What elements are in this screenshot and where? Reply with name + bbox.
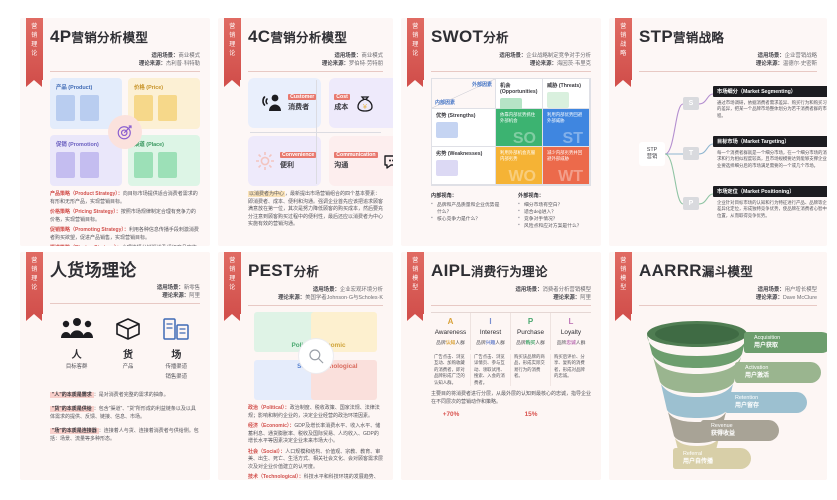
ribbon-pest: 营 销 理 论 xyxy=(224,252,241,314)
mindmap-node-s[interactable]: S xyxy=(683,97,699,110)
target-icon xyxy=(108,115,142,149)
card-header: PEST分析 适用场景：企业宏观环境分析 理论来源：美国学者Johnson·G与… xyxy=(248,260,383,306)
ribbon-stp: 营 销 战 略 xyxy=(615,18,632,80)
para: "货"的本质是供给：包含"渠道"、"货"所形成的利益链条以及以具体需求的提供、反… xyxy=(50,405,200,421)
mindmap-card-positioning: 市场定位（Market Positioning） 企业针对目标市场的认知和行为特… xyxy=(713,186,827,219)
funnel-label-acquisition: Acquisition 用户获取 xyxy=(744,332,827,353)
pct-awareness: +70% xyxy=(431,411,471,418)
aipl-desc-interest: 广告点击、浏览详情页、参与互动、领取试用、搜索、入会的消费者。 xyxy=(471,354,511,386)
page-title: SWOT分析 xyxy=(431,26,591,49)
ribbon-4p: 营 销 理 论 xyxy=(26,18,43,80)
card-meta: 适用场景：新零售 理论来源：阿里 xyxy=(50,284,200,300)
para: 主要目的将消费者进行分层，从最外层的认知到最核心的忠诚，指导企业在不同层次的营销… xyxy=(431,391,591,406)
list-item: 核心竞争力是什么？ xyxy=(431,216,504,223)
title-sub: 营销分析模型 xyxy=(71,31,148,45)
list-item: 竞争对手情况？ xyxy=(518,216,591,223)
ribbon-swot: 营 销 理 论 xyxy=(407,18,424,80)
para: 经济（Economic）：GDP及增长率消费水平、收入水平、储蓄利息、通货膨胀率… xyxy=(248,423,383,446)
matrix-cell-wo: 利用外部机会克服内部劣势WO xyxy=(496,147,543,185)
card-swot: 营 销 理 论 SWOT分析 适用场景：企业战略制定竞争对手分析 理论来源：海因… xyxy=(401,18,601,246)
matrix-row-weaknesses: 劣势 (Weaknesses) xyxy=(432,147,496,185)
card-meta: 适用场景：消费者分析营销模型 理论来源：阿里 xyxy=(431,286,591,302)
card-body-4p: 产品策略（Product Strategy）：向目标市场提供适合消费者需求的有形… xyxy=(50,191,200,246)
diagram-4p: 产品 (Product) 价格 (Price) 促销 (Promotion) 渠… xyxy=(50,78,200,186)
quadrant-cost: Cost成本 ¥ xyxy=(329,78,393,128)
funnel-label-revenue: Revenue 获得收益 xyxy=(701,420,779,441)
aipl-col-purchase: P Purchase 品牌购买人群 xyxy=(511,313,551,350)
card-4p: 营 销 理 论 4P营销分析模型 适用场景：商业模式 理论来源：杰利普·科特勒 … xyxy=(20,18,210,246)
para: 政治（Political）：政治制度、税收政策、国家法规、法律法规；影响和制约企… xyxy=(248,405,383,420)
page-title: STP营销战略 xyxy=(639,26,817,49)
aipl-percentages: +70% 15% xyxy=(431,411,591,418)
para: 产品策略（Product Strategy）：向目标市场提供适合消费者需求的有形… xyxy=(50,191,200,206)
customer-icon xyxy=(261,91,285,115)
gear-icon xyxy=(253,149,277,173)
swot-internal-list: 内部视角： 品牌和产品质量和企业优势是什么？ 核心竞争力是什么？ xyxy=(431,192,504,230)
axis-horizontal xyxy=(250,132,381,133)
card-stp: 营 销 战 略 STP营销战略 适用场景：企业营销战略 理论来源：温德尔·史密斯… xyxy=(609,18,827,246)
rhc-items: 人 目标客群 货 产品 场 传播渠道 销售渠道 xyxy=(50,312,200,381)
aipl-col-interest: I Interest 品牌兴趣人群 xyxy=(471,313,511,350)
ribbon-renhuochang: 营 销 理 论 xyxy=(26,252,43,314)
pct-loyalty xyxy=(551,411,591,418)
ribbon-aipl: 营 销 模 型 xyxy=(407,252,424,314)
page-title: 人货场理论 xyxy=(50,260,200,281)
people-icon xyxy=(60,312,94,342)
funnel-aarrr: Acquisition 用户获取 Activation 用户激活 Retenti… xyxy=(639,310,817,480)
para: 促销策略（Promoting Strategy）：利用各种信息传播手段刺激消费者… xyxy=(50,227,200,242)
list-item: 细分市场有空白？ xyxy=(518,202,591,209)
ribbon-char: 理 xyxy=(31,41,38,49)
ribbon-char: 营 xyxy=(31,23,38,31)
para: 价格策略（Pricing Strategy）：按照市场规律制定合理有竞争力的价格… xyxy=(50,209,200,224)
diagram-pest: Political Economic Social Technological xyxy=(248,312,383,400)
card-header: SWOT分析 适用场景：企业战略制定竞争对手分析 理论来源：海因茨·韦里克 xyxy=(431,26,591,72)
pct-interest xyxy=(471,411,511,418)
page-title: AARRR漏斗模型 xyxy=(639,260,817,283)
list-item: 风险点和应对方案是什么？ xyxy=(518,223,591,230)
aipl-col-awareness: A Awareness 品牌认知人群 xyxy=(431,313,471,350)
money-bag-icon: ¥ xyxy=(353,91,377,115)
rhc-item-place: 场 传播渠道 销售渠道 xyxy=(162,312,190,381)
diagram-4c: Customer消费者 Cost成本 ¥ Convenience便利 Commu… xyxy=(248,78,383,186)
quadrant-communication: Communication沟通 xyxy=(329,136,393,186)
para: 以消费者为中心，最新提出市场营销组合的四个基本要素：即消费者、成本、便利和沟通。… xyxy=(248,191,383,229)
ribbon-aarrr: 营 销 模 型 xyxy=(615,252,632,314)
card-header: 4P营销分析模型 适用场景：商业模式 理论来源：杰利普·科特勒 xyxy=(50,26,200,72)
meta-row: 理论来源：杰利普·科特勒 xyxy=(50,60,200,68)
card-aipl: 营 销 模 型 AIPL消费行为理论 适用场景：消费者分析营销模型 理论来源：阿… xyxy=(401,252,601,480)
mindmap-stp: STP 营销 S T P 市场细分（Market Segmenting） 通过市… xyxy=(639,78,817,236)
card-meta: 适用场景：用户增长模型 理论来源：Dave McClure xyxy=(639,286,817,302)
aipl-columns: A Awareness 品牌认知人群 I Interest 品牌兴趣人群 P P… xyxy=(431,312,591,350)
ribbon-char: 论 xyxy=(31,50,38,58)
card-aarrr: 营 销 模 型 AARRR漏斗模型 适用场景：用户增长模型 理论来源：Dave … xyxy=(609,252,827,480)
matrix-cell-st: 利用内部优势回避外部威胁ST xyxy=(543,109,590,147)
mindmap-card-segmenting: 市场细分（Market Segmenting） 通过市场调研，依据消费者需求差异… xyxy=(713,86,827,119)
chat-bubble-icon xyxy=(381,149,394,173)
para: "人"的本质是需求：是对消费者完整的需求的抽象。 xyxy=(50,391,200,399)
aipl-desc-awareness: 广告点击、浏览互动、加购收藏的消费者，即对品牌形成广泛的认知人群。 xyxy=(431,354,471,386)
card-meta: 适用场景：企业战略制定竞争对手分析 理论来源：海因茨·韦里克 xyxy=(431,52,591,68)
card-4c: 营 销 理 论 4C营销分析模型 适用场景：商业模式 理论来源：罗伯特·劳特朋 … xyxy=(218,18,393,246)
para: 社会（Social）：人口规模和结构、价值观、宗教、教育、审美、出生、死亡、生活… xyxy=(248,449,383,472)
page-title: PEST分析 xyxy=(248,260,383,283)
matrix-row-strengths: 优势 (Strengths) xyxy=(432,109,496,147)
page-title: 4C营销分析模型 xyxy=(248,26,383,49)
card-pest: 营 销 理 论 PEST分析 适用场景：企业宏观环境分析 理论来源：美国学者Jo… xyxy=(218,252,393,480)
rhc-item-goods: 货 产品 xyxy=(113,312,143,381)
para: 渠道策略（Placing Strategy）：合理选择分销渠道及组织商品实体流通… xyxy=(50,245,200,246)
rhc-item-people: 人 目标客群 xyxy=(60,312,94,381)
para: 技术（Technological）：科技水平和科技环境的发展趋势、专利保护、技术… xyxy=(248,474,383,480)
aipl-descriptions: 广告点击、浏览互动、加购收藏的消费者，即对品牌形成广泛的认知人群。 广告点击、浏… xyxy=(431,354,591,386)
magnifier-icon xyxy=(299,339,333,373)
card-header: STP营销战略 适用场景：企业营销战略 理论来源：温德尔·史密斯 xyxy=(639,26,817,72)
ribbon-char: 销 xyxy=(31,32,38,40)
card-body-4c: 以消费者为中心，最新提出市场营销组合的四个基本要素：即消费者、成本、便利和沟通。… xyxy=(248,191,383,229)
card-meta: 适用场景：企业营销战略 理论来源：温德尔·史密斯 xyxy=(639,52,817,68)
matrix-cell-wt: 减少内部劣势并回避外部威胁WT xyxy=(543,147,590,185)
list-item: 适合değ进入？ xyxy=(518,209,591,216)
infographic-board: 营 销 理 论 4P营销分析模型 适用场景：商业模式 理论来源：杰利普·科特勒 … xyxy=(0,0,837,500)
quadrant-customer: Customer消费者 xyxy=(248,78,321,128)
para: "场"的本质是连接器：连接着人与货、连接着消费者与供给侧。包括：场景、流量等多种… xyxy=(50,427,200,443)
funnel-label-retention: Retention 用户留存 xyxy=(725,392,807,413)
mindmap-node-t[interactable]: T xyxy=(683,147,699,160)
aipl-col-loyalty: L Loyalty 品牌忠诚人群 xyxy=(551,313,591,350)
card-body-pest: 政治（Political）：政治制度、税收政策、国家法规、法律法规；影响和制约企… xyxy=(248,405,383,480)
list-item: 品牌和产品质量和企业优势是什么？ xyxy=(431,202,504,216)
page-title: AIPL消费行为理论 xyxy=(431,260,591,283)
pct-purchase: 15% xyxy=(511,411,551,418)
card-header: 人货场理论 适用场景：新零售 理论来源：阿里 xyxy=(50,260,200,304)
matrix-swot: 外部因素 内部因素 机会 (Opportunities) 威胁 (Threats… xyxy=(431,78,591,186)
funnel-label-referral: Referral 用户自传播 xyxy=(673,448,751,469)
mindmap-node-p[interactable]: P xyxy=(683,197,699,210)
ribbon-4c: 营 销 理 论 xyxy=(224,18,241,80)
card-meta: 适用场景：企业宏观环境分析 理论来源：美国学者Johnson·G与Scholes… xyxy=(248,286,383,302)
aipl-bottom-note: 主要目的将消费者进行分层，从最外层的认知到最核心的忠诚，指导企业在不同层次的营销… xyxy=(431,391,591,406)
matrix-col-opportunities: 机会 (Opportunities) xyxy=(496,79,543,109)
card-header: AIPL消费行为理论 适用场景：消费者分析营销模型 理论来源：阿里 xyxy=(431,260,591,306)
matrix-col-threats: 威胁 (Threats) xyxy=(543,79,590,109)
box-icon xyxy=(113,312,143,342)
card-body-rhc: "人"的本质是需求：是对消费者完整的需求的抽象。 "货"的本质是供给：包含"渠道… xyxy=(50,391,200,443)
quadrant-place: 渠道 (Place) xyxy=(128,135,200,186)
svg-text:¥: ¥ xyxy=(363,104,367,111)
card-meta: 适用场景：商业模式 理论来源：罗伯特·劳特朋 xyxy=(248,52,383,68)
store-icon xyxy=(162,312,190,342)
matrix-cell-so: 依靠内部优势抓住外部机会SO xyxy=(496,109,543,147)
swot-external-list: 外部视角： 细分市场有空白？ 适合değ进入？ 竞争对手情况？ 风险点和应对方案… xyxy=(518,192,591,230)
page-title: 4P营销分析模型 xyxy=(50,26,200,49)
mindmap-card-targeting: 目标市场（Market Targeting） 每一个消费者群就是一个细分市场，在… xyxy=(713,136,827,169)
card-meta: 适用场景：商业模式 理论来源：杰利普·科特勒 xyxy=(50,52,200,68)
funnel-label-activation: Activation 用户激活 xyxy=(735,362,821,383)
matrix-corner: 外部因素 内部因素 xyxy=(432,79,496,109)
aipl-desc-purchase: 购买该品牌的商品，形成实际交易行为的消费者。 xyxy=(511,354,551,386)
mindmap-root: STP 营销 xyxy=(639,142,665,166)
title-main: 4P xyxy=(50,27,71,46)
quadrant-convenience: Convenience便利 xyxy=(248,136,321,186)
card-header: AARRR漏斗模型 适用场景：用户增长模型 理论来源：Dave McClure xyxy=(639,260,817,306)
swot-questions: 内部视角： 品牌和产品质量和企业优势是什么？ 核心竞争力是什么？ 外部视角： 细… xyxy=(431,192,591,230)
card-header: 4C营销分析模型 适用场景：商业模式 理论来源：罗伯特·劳特朋 xyxy=(248,26,383,72)
meta-row: 适用场景：商业模式 xyxy=(50,52,200,60)
card-renhuochang: 营 销 理 论 人货场理论 适用场景：新零售 理论来源：阿里 人 目标客群 xyxy=(20,252,210,480)
aipl-desc-loyalty: 购买后评价、分享、复购的消费者，形成对品牌的忠诚。 xyxy=(551,354,591,386)
